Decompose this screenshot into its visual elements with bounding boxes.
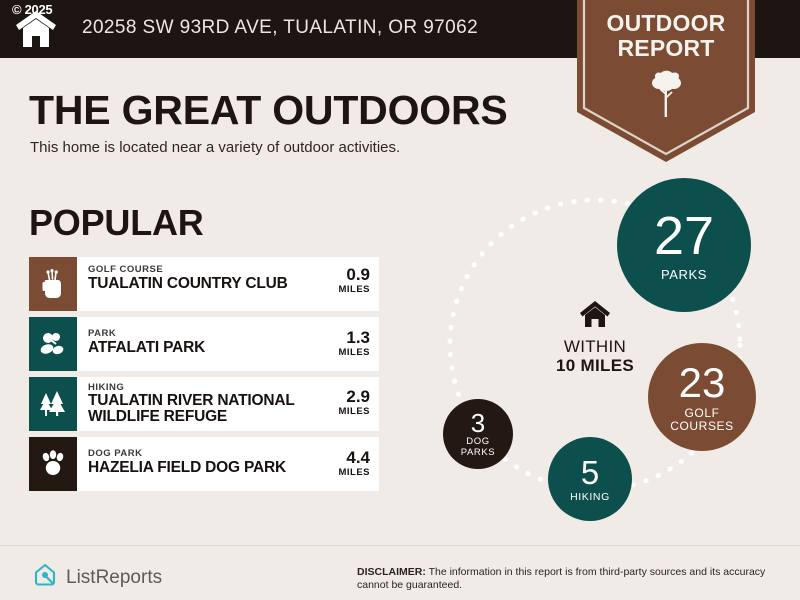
paw-print-icon — [29, 437, 77, 491]
distance-value: 1.3 — [321, 329, 370, 347]
list-item-category: GOLF COURSE — [88, 264, 321, 275]
center-label-line1: WITHIN — [525, 337, 665, 356]
brand-name: ListReports — [66, 567, 162, 589]
stat-value: 23 — [679, 362, 726, 404]
list-item-distance: 0.9 MILES — [321, 257, 379, 311]
stat-label: PARKS — [661, 267, 707, 282]
distance-value: 0.9 — [321, 266, 370, 284]
badge-title: OUTDOOR REPORT — [577, 11, 755, 61]
property-address: 20258 SW 93RD AVE, TUALATIN, OR 97062 — [82, 17, 478, 39]
stat-value: 27 — [654, 209, 714, 263]
distance-unit: MILES — [321, 406, 370, 418]
footer-divider — [0, 545, 800, 546]
list-item-name: ATFALATI PARK — [88, 339, 321, 356]
list-item-category: DOG PARK — [88, 448, 321, 459]
list-item-distance: 4.4 MILES — [321, 437, 379, 491]
disclaimer: DISCLAIMER: The information in this repo… — [357, 566, 781, 592]
distance-unit: MILES — [321, 347, 370, 359]
distance-unit: MILES — [321, 467, 370, 479]
stat-label-line1: DOG — [466, 437, 489, 448]
house-icon — [525, 300, 665, 333]
list-item[interactable]: GOLF COURSE TUALATIN COUNTRY CLUB 0.9 MI… — [29, 257, 379, 311]
stat-bubble-dog-parks[interactable]: 3 DOG PARKS — [443, 399, 513, 469]
center-label-line2: 10 MILES — [525, 356, 665, 375]
list-item-text: GOLF COURSE TUALATIN COUNTRY CLUB — [77, 257, 321, 311]
list-item-text: PARK ATFALATI PARK — [77, 317, 321, 371]
tree-icon — [650, 70, 683, 118]
stat-bubble-hiking[interactable]: 5 HIKING — [548, 437, 632, 521]
stat-label-line2: COURSES — [670, 420, 734, 433]
stat-label-line1: GOLF — [684, 407, 719, 420]
list-item[interactable]: PARK ATFALATI PARK 1.3 MILES — [29, 317, 379, 371]
popular-list: GOLF COURSE TUALATIN COUNTRY CLUB 0.9 MI… — [29, 257, 379, 497]
list-item[interactable]: HIKING TUALATIN RIVER NATIONAL WILDLIFE … — [29, 377, 379, 431]
list-item-distance: 2.9 MILES — [321, 377, 379, 431]
list-item[interactable]: DOG PARK HAZELIA FIELD DOG PARK 4.4 MILE… — [29, 437, 379, 491]
pine-trees-icon — [29, 377, 77, 431]
list-item-distance: 1.3 MILES — [321, 317, 379, 371]
listreports-logo-icon — [32, 562, 58, 593]
outdoor-report-page: © 2025 20258 SW 93RD AVE, TUALATIN, OR 9… — [0, 0, 800, 600]
stat-value: 5 — [581, 456, 599, 489]
copyright-label: © 2025 — [12, 2, 52, 17]
chart-center-label: WITHIN 10 MILES — [525, 300, 665, 375]
list-item-name: TUALATIN COUNTRY CLUB — [88, 275, 321, 292]
list-item-text: DOG PARK HAZELIA FIELD DOG PARK — [77, 437, 321, 491]
list-item-name: HAZELIA FIELD DOG PARK — [88, 459, 321, 476]
list-item-name: TUALATIN RIVER NATIONAL WILDLIFE REFUGE — [88, 393, 321, 425]
golf-bag-icon — [29, 257, 77, 311]
outdoor-report-badge: OUTDOOR REPORT — [577, 0, 755, 162]
badge-title-line1: OUTDOOR — [577, 11, 755, 36]
distance-unit: MILES — [321, 284, 370, 296]
list-item-category: PARK — [88, 328, 321, 339]
list-item-text: HIKING TUALATIN RIVER NATIONAL WILDLIFE … — [77, 377, 321, 431]
within-10-miles-chart: 27 PARKS 23 GOLF COURSES 5 HIKING 3 DOG … — [420, 165, 770, 525]
stat-value: 3 — [471, 410, 485, 436]
stat-bubble-parks[interactable]: 27 PARKS — [617, 178, 751, 312]
disclaimer-label: DISCLAIMER: — [357, 566, 426, 578]
stat-label-line2: PARKS — [461, 448, 496, 459]
stat-label: HIKING — [570, 491, 610, 503]
distance-value: 2.9 — [321, 388, 370, 406]
badge-title-line2: REPORT — [577, 36, 755, 61]
popular-heading: POPULAR — [29, 202, 204, 244]
distance-value: 4.4 — [321, 449, 370, 467]
page-title: THE GREAT OUTDOORS — [29, 87, 508, 134]
page-subtitle: This home is located near a variety of o… — [30, 139, 400, 156]
listreports-brand[interactable]: ListReports — [32, 562, 162, 593]
park-icon — [29, 317, 77, 371]
